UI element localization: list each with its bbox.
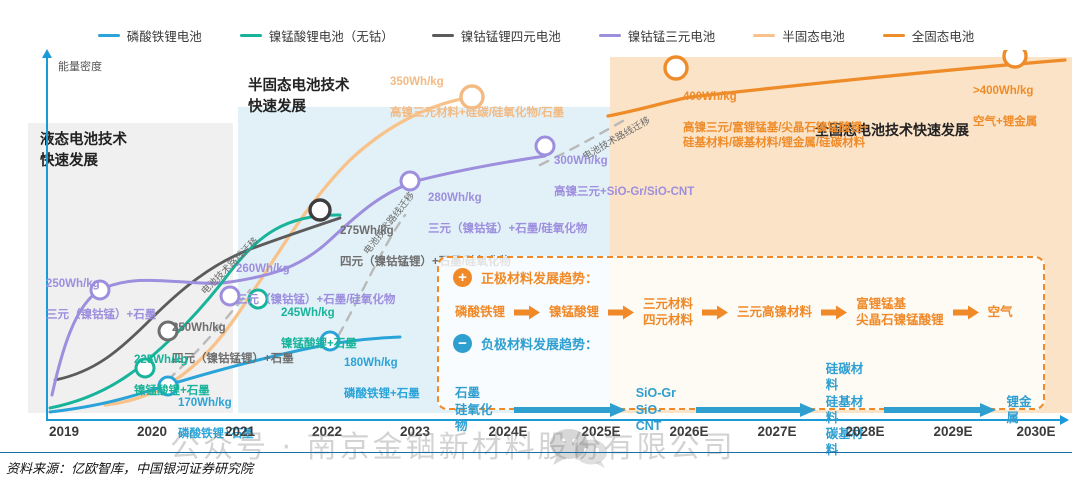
x-tick-2025E: 2025E <box>581 424 620 439</box>
legend-label-quaternary: 镍钴锰锂四元电池 <box>461 26 561 45</box>
legend-label-all-solid: 全固态电池 <box>912 26 975 45</box>
legend-label-lnmo: 镍锰酸锂电池（无钴） <box>269 26 394 45</box>
x-axis-ticks: 2019 2020 2021 2022 2023 2024E 2025E 202… <box>0 424 1072 444</box>
anode-trend-title: 负极材料发展趋势： <box>481 334 598 353</box>
x-tick-2028E: 2028E <box>845 424 884 439</box>
cathode-chain-item-3: 三元材料 四元材料 <box>643 296 693 329</box>
anode-trend-header: − 负极材料发展趋势： <box>453 334 598 353</box>
arrow-right-icon <box>608 305 634 320</box>
x-tick-2021: 2021 <box>225 424 255 439</box>
point-label-400plus-all-solid: >400Wh/kg 空气+锂金属 <box>973 68 1037 146</box>
cathode-chain: 磷酸铁锂 镍锰酸锂 三元材料 四元材料 三元高镍材料 富锂锰基 尖晶石镍锰酸锂 … <box>455 296 1013 329</box>
x-tick-2029E: 2029E <box>933 424 972 439</box>
cathode-chain-item-5: 富锂锰基 尖晶石镍锰酸锂 <box>856 296 944 329</box>
anode-chain-item-4: 锂金属 <box>1006 394 1043 427</box>
x-tick-2027E: 2027E <box>757 424 796 439</box>
x-tick-2023: 2023 <box>400 424 430 439</box>
legend-item-lnmo: 镍锰酸锂电池（无钴） <box>240 26 394 45</box>
legend-item-lfp: 磷酸铁锂电池 <box>98 26 202 45</box>
point-label-350-semi-solid: 350Wh/kg 高镍三元材料+硅碳/硅氧化物/石墨 <box>390 59 564 137</box>
cathode-chain-item-6: 空气 <box>988 304 1013 320</box>
arrow-right-icon <box>821 305 847 320</box>
x-tick-2020: 2020 <box>137 424 167 439</box>
x-tick-2022: 2022 <box>312 424 342 439</box>
legend-swatch-quaternary <box>432 34 454 37</box>
chart-legend: 磷酸铁锂电池 镍锰酸锂电池（无钴） 镍钴锰锂四元电池 镍钴锰三元电池 半固态电池… <box>0 24 1072 46</box>
point-label-300-ternary: 300Wh/kg 高镍三元+SiO-Gr/SiO-CNT <box>554 138 694 216</box>
arrow-right-icon <box>884 403 996 417</box>
point-label-250-ternary: 250Wh/kg 三元（镍钴锰）+石墨 <box>46 261 156 339</box>
node-400plus-all-solid <box>1004 50 1026 67</box>
plus-circle-icon: + <box>453 268 472 287</box>
chart-root: 磷酸铁锂电池 镍锰酸锂电池（无钴） 镍钴锰锂四元电池 镍钴锰三元电池 半固态电池… <box>0 0 1072 484</box>
legend-swatch-semi-solid <box>753 34 775 37</box>
point-label-180-lfp: 180Wh/kg 磷酸铁锂+石墨 <box>344 340 420 418</box>
x-tick-2026E: 2026E <box>669 424 708 439</box>
point-label-400-all-solid: 400Wh/kg 高镍三元/富锂锰基/尖晶石镍锰酸锂+ 硅基材料/碳基材料/锂金… <box>683 74 869 167</box>
node-275-quaternary <box>310 200 330 220</box>
node-300-ternary <box>536 137 554 155</box>
cathode-trend-header: + 正极材料发展趋势： <box>453 268 598 287</box>
legend-swatch-lnmo <box>240 34 262 37</box>
legend-swatch-all-solid <box>883 34 905 37</box>
cathode-trend-title: 正极材料发展趋势： <box>481 268 598 287</box>
arrow-right-icon <box>702 305 728 320</box>
arrow-right-icon <box>514 403 626 417</box>
point-label-170-lfp: 170Wh/kg 磷酸铁锂+石墨 <box>178 380 254 458</box>
legend-item-semi-solid: 半固态电池 <box>753 26 845 45</box>
legend-item-all-solid: 全固态电池 <box>883 26 975 45</box>
arrow-right-icon <box>696 403 816 417</box>
arrow-right-icon <box>514 305 540 320</box>
footer-divider <box>0 452 1072 453</box>
x-tick-2019: 2019 <box>49 424 79 439</box>
legend-item-ternary: 镍钴锰三元电池 <box>599 26 716 45</box>
legend-label-semi-solid: 半固态电池 <box>782 26 845 45</box>
cathode-chain-item-1: 磷酸铁锂 <box>455 304 505 320</box>
legend-label-ternary: 镍钴锰三元电池 <box>628 26 716 45</box>
cathode-chain-item-4: 三元高镍材料 <box>737 304 812 320</box>
legend-label-lfp: 磷酸铁锂电池 <box>127 26 202 45</box>
legend-swatch-ternary <box>599 34 621 37</box>
cathode-chain-item-2: 镍锰酸锂 <box>549 304 599 320</box>
arrow-right-icon <box>953 305 979 320</box>
legend-item-quaternary: 镍钴锰锂四元电池 <box>432 26 561 45</box>
minus-circle-icon: − <box>453 334 472 353</box>
source-note: 资料来源：亿欧智库，中国银河证券研究院 <box>6 458 253 477</box>
node-280-ternary <box>401 172 419 190</box>
material-trend-box: + 正极材料发展趋势： 磷酸铁锂 镍锰酸锂 三元材料 四元材料 三元高镍材料 富… <box>437 256 1045 410</box>
x-tick-2024E: 2024E <box>488 424 527 439</box>
legend-swatch-lfp <box>98 34 120 37</box>
x-tick-2030E: 2030E <box>1016 424 1055 439</box>
